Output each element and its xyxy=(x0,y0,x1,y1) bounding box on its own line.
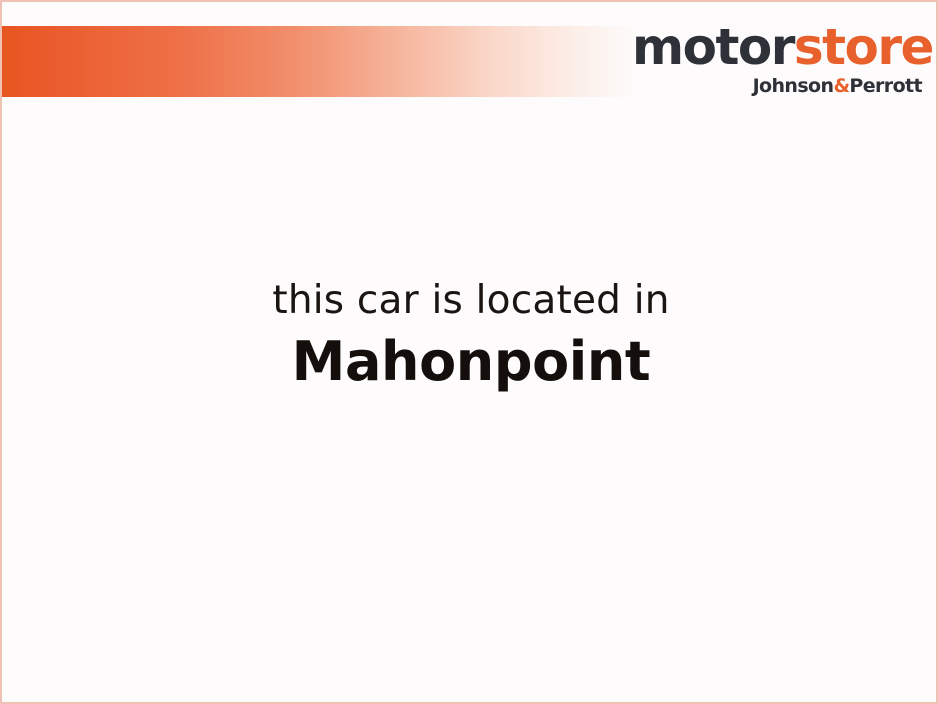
slide-canvas: motorstore Johnson&Perrott this car is l… xyxy=(0,0,938,704)
logo-subline-johnson: Johnson xyxy=(753,75,834,97)
orange-gradient-bar xyxy=(0,26,639,97)
header-banner: motorstore Johnson&Perrott xyxy=(2,2,938,110)
logo-word-motor: motor xyxy=(632,18,794,76)
location-message-place: Mahonpoint xyxy=(2,330,938,394)
location-message-intro: this car is located in xyxy=(2,278,938,324)
location-message: this car is located in Mahonpoint xyxy=(2,278,938,394)
logo-subline-ampersand: & xyxy=(833,75,849,97)
logo-word-store: store xyxy=(794,18,933,76)
motorstore-logo: motorstore Johnson&Perrott xyxy=(632,22,922,96)
logo-subline: Johnson&Perrott xyxy=(632,77,922,96)
logo-wordmark: motorstore xyxy=(632,22,922,72)
logo-subline-perrott: Perrott xyxy=(849,75,922,97)
